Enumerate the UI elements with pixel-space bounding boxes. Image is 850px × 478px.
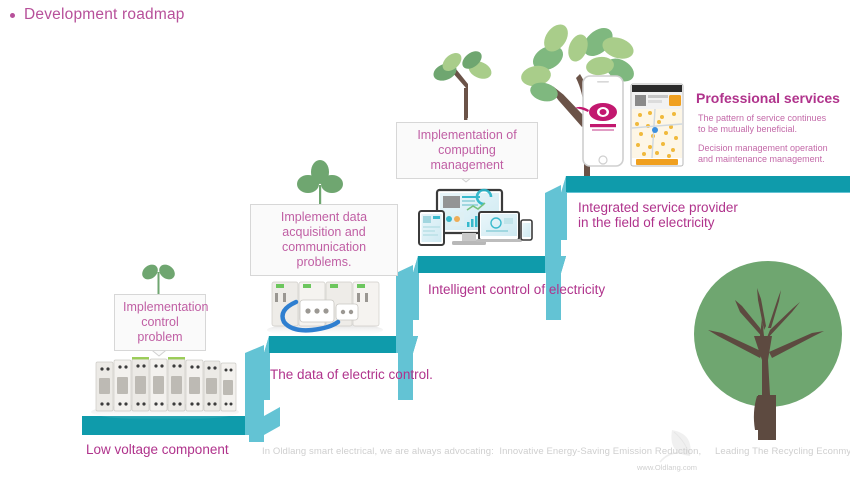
callout-1: Implementation control problem [114, 294, 206, 351]
callout-3: Implementation of computing management [396, 122, 538, 179]
tree-icon [694, 261, 842, 440]
terminal-blocks-icon [267, 282, 383, 337]
step-label-data-of-electric-control: The data of electric control. [270, 367, 433, 382]
footer-url: www.Oldlang.com [637, 463, 697, 472]
sapling-icon [431, 48, 494, 120]
sprout-three-leaf-icon [297, 160, 343, 207]
sprout-two-leaf-icon [139, 262, 177, 294]
footer-slogan: In Oldlang smart electrical, we are alwa… [262, 446, 850, 457]
circuit-breakers-icon [91, 357, 239, 420]
panel-title: Professional services [696, 90, 840, 106]
panel-paragraph-1: The pattern of service continues to be m… [698, 113, 826, 135]
panel-paragraph-2: Decision management operation and mainte… [698, 143, 828, 165]
step-label-low-voltage-component: Low voltage component [86, 442, 229, 457]
mobile-apps-icon [575, 76, 683, 166]
step-label-intelligent-control: Intelligent control of electricity [428, 282, 605, 297]
devices-dashboard-icon [419, 190, 532, 245]
slide-canvas: Development roadmap [0, 0, 850, 478]
callout-2: Implement data acquisition and communica… [250, 204, 398, 276]
step-label-integrated-service-provider: Integrated service provider in the field… [578, 200, 738, 230]
staircase-graphic [0, 0, 850, 478]
